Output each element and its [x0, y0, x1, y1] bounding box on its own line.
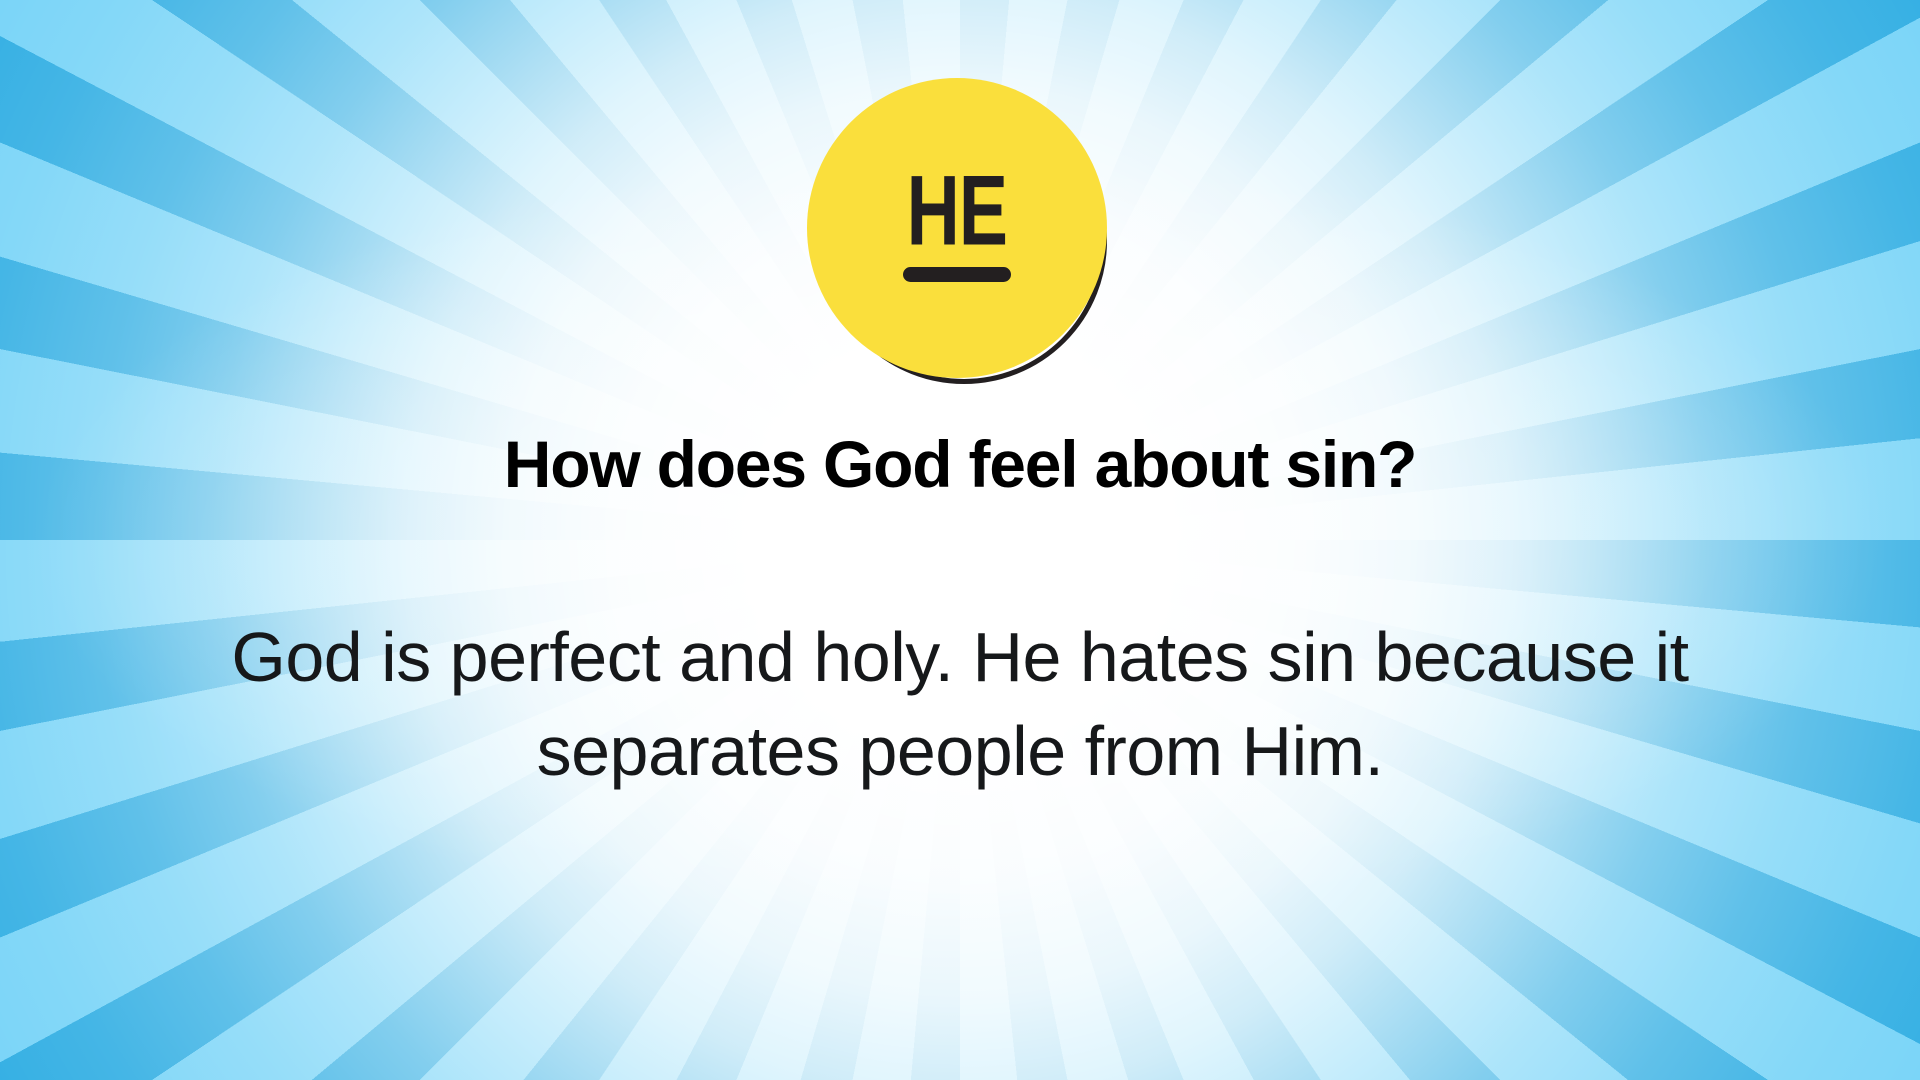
logo-letters: HE: [907, 167, 1008, 256]
he-badge-logo: HE: [807, 78, 1113, 384]
slide-heading: How does God feel about sin?: [504, 428, 1416, 501]
slide-body-text: God is perfect and holy. He hates sin be…: [215, 611, 1705, 799]
logo-mark: HE: [807, 78, 1107, 378]
slide-canvas: HE How does God feel about sin? God is p…: [0, 0, 1920, 1080]
logo-underline-bar-icon: [903, 267, 1011, 282]
slide-content: HE How does God feel about sin? God is p…: [0, 0, 1920, 1080]
